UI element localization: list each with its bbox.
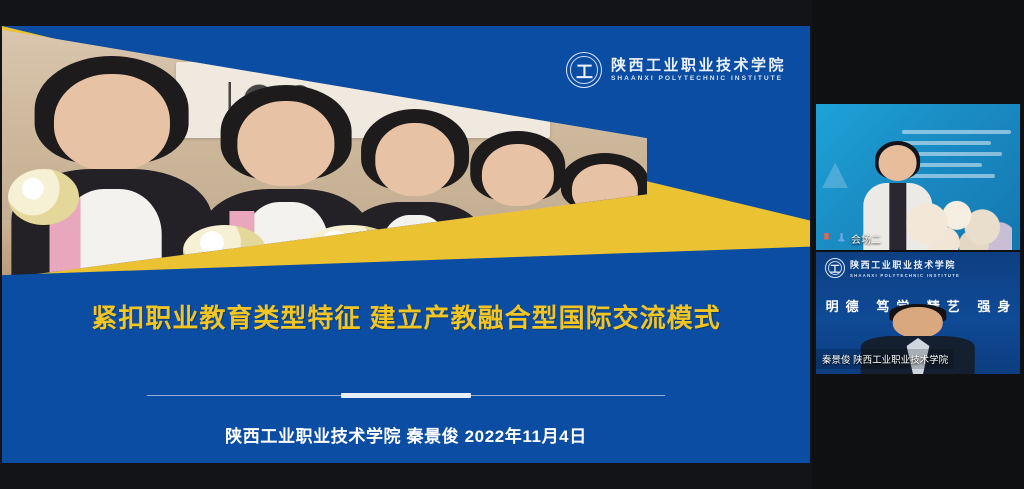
backdrop-name-en: SHAANXI POLYTECHNIC INSTITUTE xyxy=(850,273,960,278)
slide-subtitle: 陕西工业职业技术学院 秦景俊 2022年11月4日 xyxy=(2,422,810,447)
video-rail: 会场二 工 陕西工业职业技术学院 SHAANXI POLYTECHNIC INS… xyxy=(812,0,1024,489)
screen-share-stage: 工 陕西工业职业技术学院 SHAANXI POLYTECHNIC INSTITU… xyxy=(0,0,812,489)
presentation-slide[interactable]: 工 陕西工业职业技术学院 SHAANXI POLYTECHNIC INSTITU… xyxy=(2,26,810,463)
institute-name-cn: 陕西工业职业技术学院 xyxy=(611,58,786,73)
presenter-name: 秦景俊 陕西工业职业技术学院 xyxy=(822,355,948,366)
pin-icon xyxy=(836,233,847,245)
backdrop-seal-glyph: 工 xyxy=(830,261,840,276)
video-frame-1 xyxy=(816,104,1020,250)
institute-logo: 工 陕西工业职业技术学院 SHAANXI POLYTECHNIC INSTITU… xyxy=(566,52,786,88)
video-tile-presenter[interactable]: 工 陕西工业职业技术学院 SHAANXI POLYTECHNIC INSTITU… xyxy=(816,252,1020,374)
backdrop-seal-icon: 工 xyxy=(825,258,845,278)
stage-logo-shape xyxy=(822,162,848,188)
flower-arrangement xyxy=(906,200,1012,250)
seal-glyph: 工 xyxy=(576,58,592,83)
meeting-window: 工 陕西工业职业技术学院 SHAANXI POLYTECHNIC INSTITU… xyxy=(0,0,1024,489)
video-tile-venue[interactable]: 会场二 xyxy=(816,104,1020,250)
slide-title: 紧扣职业教育类型特征 建立产教融合型国际交流模式 xyxy=(2,298,810,335)
institute-seal-icon: 工 xyxy=(566,52,602,88)
title-divider xyxy=(147,395,665,396)
institute-name-en: SHAANXI POLYTECHNIC INSTITUTE xyxy=(611,76,786,83)
backdrop-institute-logo: 工 陕西工业职业技术学院 SHAANXI POLYTECHNIC INSTITU… xyxy=(825,258,960,278)
presenter-name-bar: 秦景俊 陕西工业职业技术学院 xyxy=(816,349,954,369)
backdrop-name-cn: 陕西工业职业技术学院 xyxy=(850,258,960,271)
participant-name: 会场二 xyxy=(851,231,881,246)
microphone-icon xyxy=(821,233,832,245)
video-tile-label: 会场二 xyxy=(821,231,881,246)
